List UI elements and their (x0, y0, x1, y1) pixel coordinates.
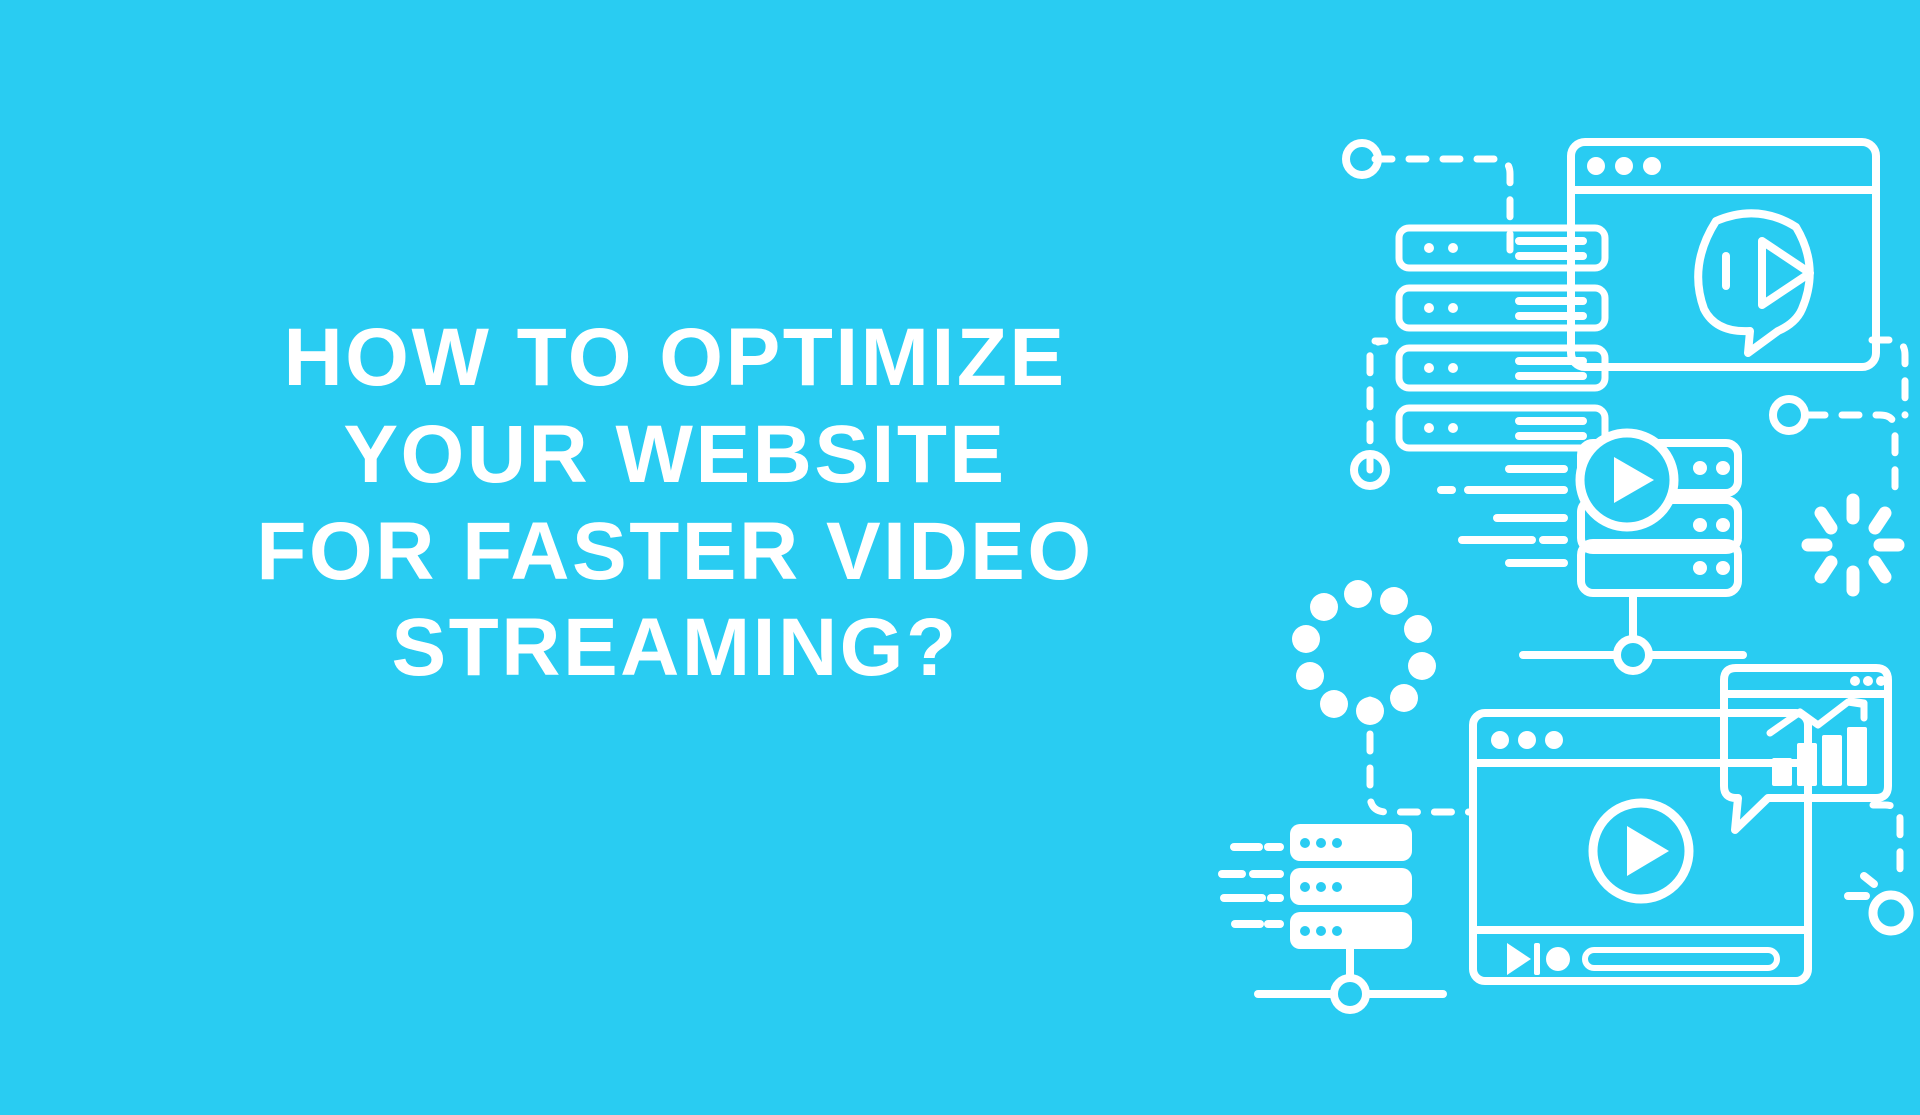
page-title: HOW TO OPTIMIZE YOUR WEBSITE FOR FASTER … (150, 310, 1200, 697)
banner-canvas: HOW TO OPTIMIZE YOUR WEBSITE FOR FASTER … (0, 0, 1920, 1115)
